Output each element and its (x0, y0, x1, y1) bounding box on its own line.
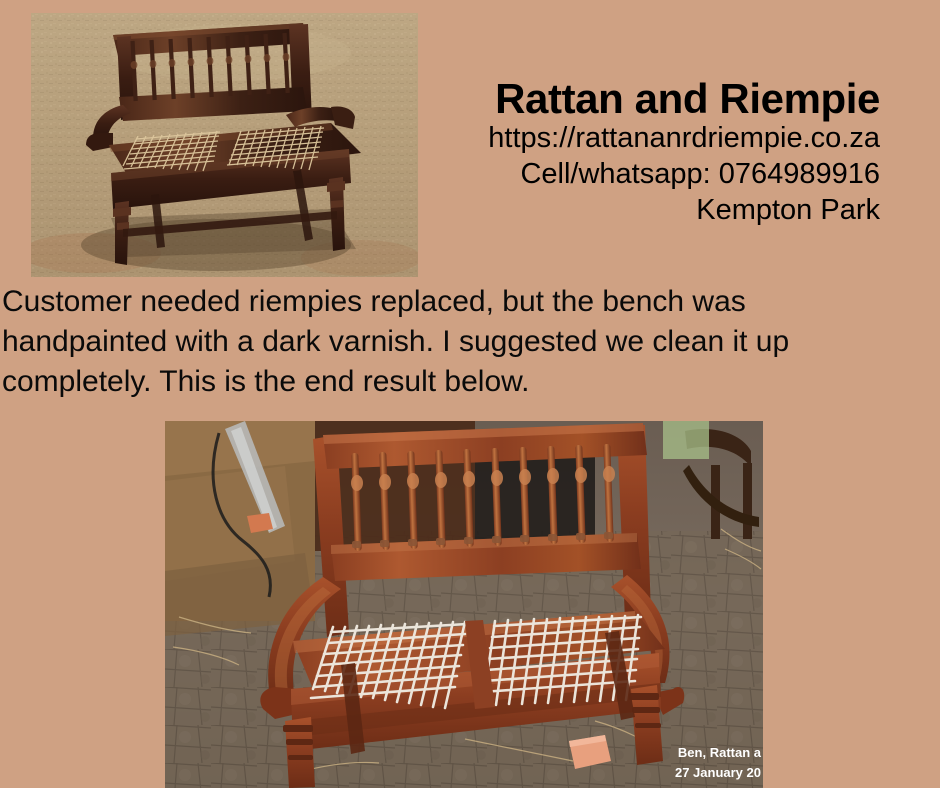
poster-canvas: Rattan and Riempie https://rattananrdrie… (0, 0, 940, 788)
description-line-1: Customer needed riempies replaced, but t… (2, 282, 918, 322)
after-photo-image: Ben, Rattan a 27 January 20 (165, 421, 763, 788)
description-line-2: handpainted with a dark varnish. I sugge… (2, 322, 918, 362)
photo-watermark-line-1: Ben, Rattan a (678, 745, 762, 760)
description-line-3: completely. This is the end result below… (2, 362, 918, 402)
before-photo (31, 13, 418, 277)
contact-phone[interactable]: Cell/whatsapp: 0764989916 (430, 157, 880, 193)
description-paragraph: Customer needed riempies replaced, but t… (2, 282, 918, 402)
photo-watermark-line-2: 27 January 20 (675, 765, 761, 780)
after-photo: Ben, Rattan a 27 January 20 (165, 421, 763, 788)
location-label: Kempton Park (430, 193, 880, 229)
website-url[interactable]: https://rattananrdriempie.co.za (430, 121, 880, 157)
before-photo-image (31, 13, 418, 277)
page-title: Rattan and Riempie (430, 76, 880, 121)
header-text-block: Rattan and Riempie https://rattananrdrie… (430, 76, 880, 229)
